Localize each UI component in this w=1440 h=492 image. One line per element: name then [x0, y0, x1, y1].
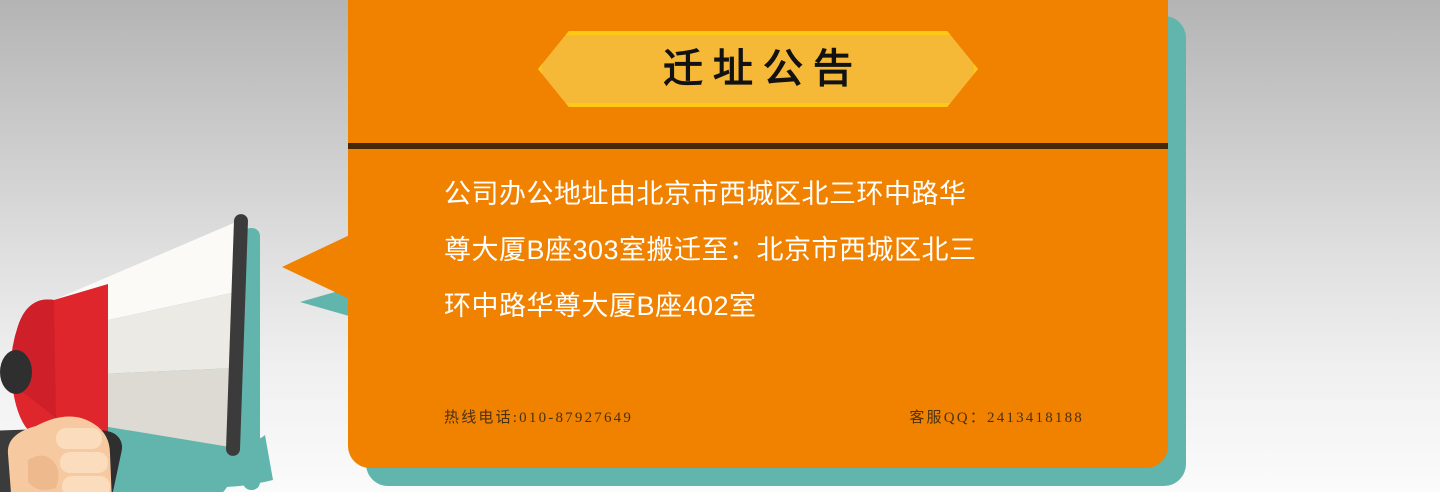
announcement-card: 迁址公告 公司办公地址由北京市西城区北三环中路华 尊大厦B座303室搬迁至：北京… — [348, 0, 1168, 468]
megaphone-icon — [0, 180, 330, 492]
qq-text: 客服QQ：2413418188 — [909, 406, 1084, 427]
speech-bubble-tail — [282, 232, 356, 302]
hotline-text: 热线电话:010-87927649 — [444, 406, 633, 427]
megaphone-illustration — [0, 180, 330, 492]
contact-footer: 热线电话:010-87927649 客服QQ：2413418188 — [444, 406, 1084, 427]
announcement-banner: 迁址公告 公司办公地址由北京市西城区北三环中路华 尊大厦B座303室搬迁至：北京… — [0, 0, 1440, 492]
title-ribbon: 迁址公告 — [538, 31, 978, 107]
body-line-1: 公司办公地址由北京市西城区北三环中路华 — [444, 166, 1104, 222]
header-divider — [348, 143, 1168, 149]
announcement-body: 公司办公地址由北京市西城区北三环中路华 尊大厦B座303室搬迁至：北京市西城区北… — [444, 166, 1104, 334]
body-line-3: 环中路华尊大厦B座402室 — [444, 278, 1104, 334]
body-line-2: 尊大厦B座303室搬迁至：北京市西城区北三 — [444, 222, 1104, 278]
page-title: 迁址公告 — [653, 49, 863, 89]
